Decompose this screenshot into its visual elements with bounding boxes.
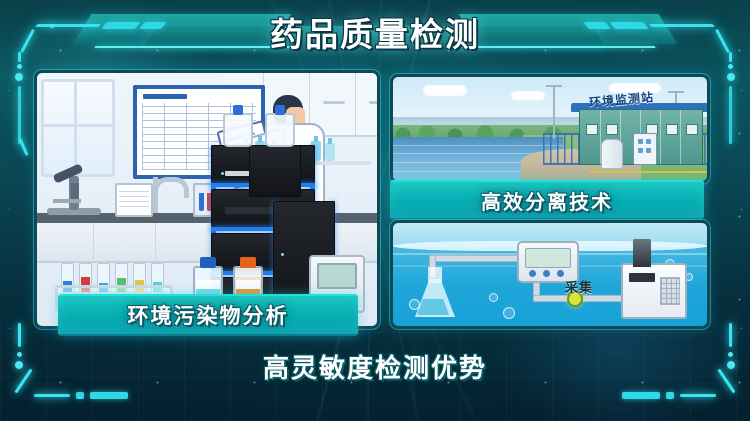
glow-dot-right-2 [727, 73, 735, 81]
glow-dot-right-1 [728, 64, 733, 69]
conical-flask [415, 267, 451, 317]
solvent-bottle-left [223, 113, 253, 147]
infographic-canvas: 药品质量检测 [0, 0, 750, 421]
cloud-2 [511, 91, 545, 100]
collect-annotation: 采集 [565, 277, 593, 296]
shelf-bottle-5 [325, 143, 335, 161]
reagent-bottle-orange-label [236, 280, 260, 289]
station-window-4 [666, 124, 678, 135]
hplc-secondary-body [249, 145, 301, 197]
lab-window [41, 79, 115, 177]
yellow-pipeline [589, 171, 707, 173]
meter-screen [525, 248, 571, 268]
reagent-bottle-orange-cap [240, 257, 256, 268]
bubble-3 [489, 293, 498, 302]
header-banner: 药品质量检测 [0, 6, 750, 62]
control-cabinet [633, 133, 657, 165]
microscope-tube [71, 183, 79, 199]
solvent-bottle-right-cap [275, 105, 285, 115]
meter-button-3 [557, 270, 564, 277]
whiteboard-title-bar [143, 94, 187, 99]
weather-mast-left [553, 87, 555, 139]
label-pollutant-analysis-text: 环境污染物分析 [128, 300, 289, 330]
gas-chromatograph [621, 263, 687, 319]
station-illustration: 环境监测站 [393, 77, 707, 181]
station-window-5 [686, 124, 698, 135]
solvent-bottle-right [265, 113, 295, 147]
faucet [153, 177, 158, 213]
gc-keypad [660, 277, 680, 305]
control-unit-screen [317, 263, 357, 289]
label-separation-technology[interactable]: 高效分离技术 [390, 180, 704, 220]
label-separation-technology-text: 高效分离技术 [481, 186, 613, 215]
bubble-4 [503, 307, 515, 319]
microscope [47, 169, 101, 215]
panel-laboratory[interactable] [34, 70, 380, 329]
hplc-led-1 [221, 172, 224, 175]
label-pollutant-analysis[interactable]: 环境污染物分析 [58, 294, 358, 336]
station-window-1 [586, 124, 598, 135]
water-sampling-illustration: 采集 [393, 223, 707, 326]
gc-screen [629, 273, 655, 282]
lab-illustration [37, 73, 377, 326]
page-title: 药品质量检测 [0, 8, 750, 56]
solvent-bottle-left-cap [233, 105, 243, 115]
microscope-stage [53, 199, 81, 203]
gc-column-tower [633, 239, 651, 267]
gas-tank [601, 139, 623, 169]
label-sensitivity-advantage-text: 高灵敏度检测优势 [263, 348, 487, 385]
label-sensitivity-advantage[interactable]: 高灵敏度检测优势 [196, 346, 554, 386]
tubing-flask-to-meter [429, 255, 521, 262]
meter-button-2 [543, 270, 550, 277]
meter-button-1 [529, 270, 536, 277]
paper-stack [115, 183, 153, 217]
hplc-instrument-secondary [249, 145, 301, 195]
panel-monitoring-station[interactable]: 环境监测站 [390, 74, 710, 184]
frame-line-right-long [729, 86, 732, 144]
panel-water-sampling[interactable]: 采集 [390, 220, 710, 329]
reagent-bottle-blue-label [196, 280, 220, 289]
hplc-module-2-slot [225, 207, 273, 214]
hplc-tower-led [281, 253, 284, 256]
reagent-bottle-blue-cap [200, 257, 216, 268]
station-window-2 [606, 124, 618, 135]
cloud-1 [423, 85, 467, 96]
